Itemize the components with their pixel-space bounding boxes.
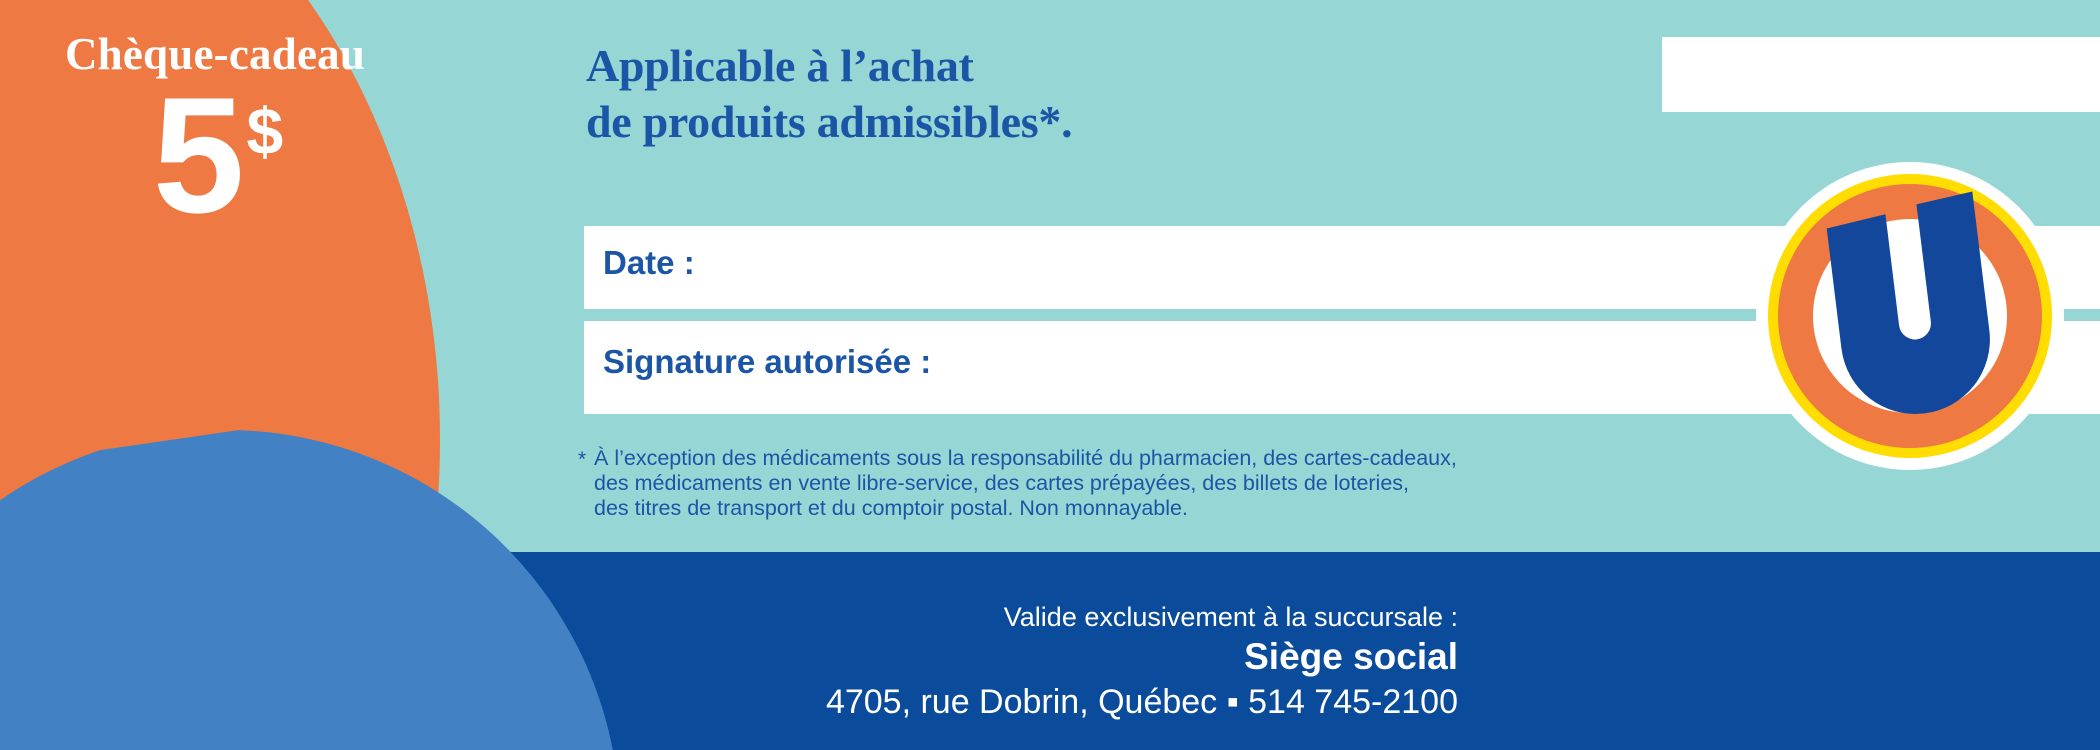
headline: Applicable à l’achat de produits admissi… [586, 38, 1072, 150]
branch-name: Siège social [826, 634, 1458, 680]
branch-info: Valide exclusivement à la succursale : S… [826, 600, 1458, 724]
denomination-panel: Chèque-cadeau 5$ [0, 0, 450, 420]
gift-certificate: Applicable à l’achat de produits admissi… [0, 0, 2100, 750]
currency-symbol: $ [247, 94, 284, 168]
headline-line-2: de produits admissibles*. [586, 94, 1072, 150]
uniprix-logo [1756, 162, 2064, 470]
amount-block: 5$ [0, 80, 430, 230]
footnote-marker: * [578, 447, 586, 472]
headline-line-1: Applicable à l’achat [586, 38, 1072, 94]
note-box[interactable] [1662, 37, 2100, 112]
branch-valid-label: Valide exclusivement à la succursale : [826, 600, 1458, 634]
footnote-line-2: des médicaments en vente libre-service, … [594, 471, 1457, 496]
branch-address: 4705, rue Dobrin, Québec ▪ 514 745-2100 [826, 680, 1458, 724]
footnote-line-3: des titres de transport et du comptoir p… [594, 496, 1457, 521]
footnote: * À l’exception des médicaments sous la … [578, 446, 1457, 521]
footnote-line-1: À l’exception des médicaments sous la re… [594, 446, 1457, 471]
date-field-label: Date : [603, 244, 695, 282]
amount-value: 5 [153, 63, 241, 247]
signature-field-label: Signature autorisée : [603, 343, 931, 381]
